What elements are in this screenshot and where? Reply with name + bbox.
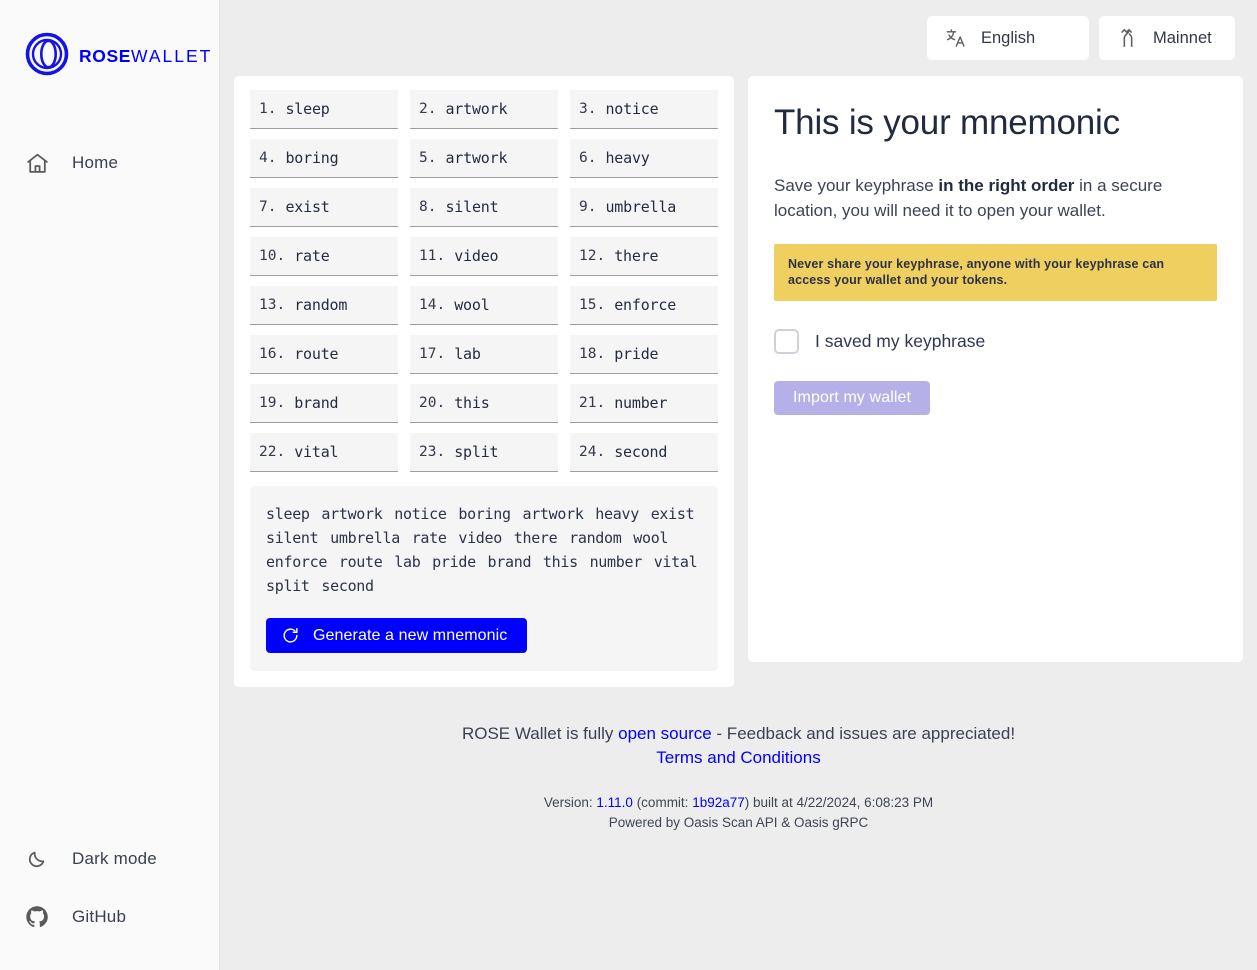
mnemonic-word-grid: 1.sleep2.artwork3.notice4.boring5.artwor…: [250, 90, 718, 472]
mnemonic-word-value: brand: [294, 394, 338, 412]
sidebar-nav-bottom: Dark mode GitHub: [0, 830, 219, 946]
mnemonic-word-value: silent: [445, 198, 498, 216]
mnemonic-word-index: 8.: [419, 199, 436, 215]
mnemonic-word-index: 1.: [259, 101, 276, 117]
app-root: ROSEWALLET Home: [0, 0, 1257, 970]
mnemonic-word-value: number: [614, 394, 667, 412]
built-at-text: ) built at 4/22/2024, 6:08:23 PM: [745, 795, 933, 810]
mnemonic-word-index: 16.: [259, 346, 285, 362]
mnemonic-word-value: pride: [614, 345, 658, 363]
sidebar-item-label: Home: [72, 153, 118, 173]
mnemonic-word-value: second: [614, 443, 667, 461]
brand-name-bold: ROSE: [79, 46, 131, 66]
mnemonic-word-box: 14.wool: [410, 286, 558, 325]
saved-keyphrase-label: I saved my keyphrase: [815, 331, 985, 352]
mnemonic-word-box: 18.pride: [570, 335, 718, 374]
topbar: English Mainnet: [220, 0, 1257, 76]
sidebar-item-home[interactable]: Home: [0, 140, 219, 186]
brand-name: ROSEWALLET: [79, 46, 212, 67]
mnemonic-word-box: 24.second: [570, 433, 718, 472]
keyphrase-warning-banner: Never share your keyphrase, anyone with …: [774, 244, 1217, 301]
mnemonic-card: 1.sleep2.artwork3.notice4.boring5.artwor…: [234, 76, 734, 687]
sidebar: ROSEWALLET Home: [0, 0, 220, 970]
network-label: Mainnet: [1153, 29, 1212, 48]
mnemonic-word-box: 9.umbrella: [570, 188, 718, 227]
mnemonic-word-index: 10.: [259, 248, 285, 264]
sidebar-item-github[interactable]: GitHub: [0, 888, 219, 946]
mnemonic-word-box: 5.artwork: [410, 139, 558, 178]
mnemonic-word-value: wool: [454, 296, 489, 314]
instructions-text: Save your keyphrase in the right order i…: [774, 173, 1217, 223]
mnemonic-word-value: notice: [605, 100, 658, 118]
mnemonic-word-value: there: [614, 247, 658, 265]
network-selector[interactable]: Mainnet: [1099, 16, 1235, 60]
mnemonic-word-index: 14.: [419, 297, 445, 313]
instructions-part1: Save your keyphrase: [774, 176, 938, 195]
home-icon: [24, 150, 50, 176]
mnemonic-word-index: 24.: [579, 444, 605, 460]
mnemonic-word-value: rate: [294, 247, 329, 265]
footer: ROSE Wallet is fully open source - Feedb…: [220, 687, 1257, 833]
import-wallet-button[interactable]: Import my wallet: [774, 381, 930, 415]
mnemonic-word-index: 11.: [419, 248, 445, 264]
brand-logo[interactable]: ROSEWALLET: [0, 0, 219, 82]
mnemonic-word-index: 19.: [259, 395, 285, 411]
mnemonic-word-index: 5.: [419, 150, 436, 166]
mnemonic-word-index: 21.: [579, 395, 605, 411]
rose-logo-ring-icon: [24, 31, 70, 82]
mnemonic-word-index: 2.: [419, 101, 436, 117]
generate-button-label: Generate a new mnemonic: [313, 627, 507, 645]
sidebar-item-label: GitHub: [72, 907, 126, 927]
shuffle-network-icon: [1117, 27, 1139, 49]
mnemonic-word-value: split: [454, 443, 498, 461]
mnemonic-word-box: 21.number: [570, 384, 718, 423]
mnemonic-word-value: exist: [285, 198, 329, 216]
footer-text-pre: ROSE Wallet is fully: [462, 724, 618, 743]
mnemonic-word-value: enforce: [614, 296, 676, 314]
github-icon: [24, 904, 50, 930]
sidebar-item-label: Dark mode: [72, 849, 157, 869]
mnemonic-phrase-panel: sleep artwork notice boring artwork heav…: [250, 486, 718, 671]
mnemonic-word-box: 19.brand: [250, 384, 398, 423]
mnemonic-word-index: 3.: [579, 101, 596, 117]
mnemonic-word-value: route: [294, 345, 338, 363]
mnemonic-word-box: 15.enforce: [570, 286, 718, 325]
mnemonic-word-box: 4.boring: [250, 139, 398, 178]
page-title: This is your mnemonic: [774, 104, 1217, 143]
translate-icon: [945, 27, 967, 49]
mnemonic-word-index: 17.: [419, 346, 445, 362]
commit-label: (commit:: [633, 795, 692, 810]
version-label: Version:: [544, 795, 597, 810]
language-label: English: [981, 29, 1035, 48]
mnemonic-word-index: 12.: [579, 248, 605, 264]
language-selector[interactable]: English: [927, 16, 1089, 60]
mnemonic-word-index: 7.: [259, 199, 276, 215]
mnemonic-word-box: 3.notice: [570, 90, 718, 129]
mnemonic-word-box: 7.exist: [250, 188, 398, 227]
mnemonic-word-box: 22.vital: [250, 433, 398, 472]
mnemonic-word-index: 4.: [259, 150, 276, 166]
mnemonic-word-index: 15.: [579, 297, 605, 313]
mnemonic-word-value: vital: [294, 443, 338, 461]
saved-keyphrase-checkbox[interactable]: [774, 329, 799, 354]
warning-text: Never share your keyphrase, anyone with …: [788, 256, 1203, 288]
mnemonic-word-value: umbrella: [605, 198, 676, 216]
mnemonic-word-value: this: [454, 394, 489, 412]
moon-icon: [24, 846, 50, 872]
mnemonic-word-value: sleep: [285, 100, 329, 118]
mnemonic-word-box: 10.rate: [250, 237, 398, 276]
mnemonic-word-value: video: [454, 247, 498, 265]
mnemonic-word-index: 13.: [259, 297, 285, 313]
mnemonic-word-box: 12.there: [570, 237, 718, 276]
sidebar-item-dark-mode[interactable]: Dark mode: [0, 830, 219, 888]
mnemonic-word-value: artwork: [445, 149, 507, 167]
mnemonic-word-box: 13.random: [250, 286, 398, 325]
footer-terms-line: Terms and Conditions: [220, 746, 1257, 770]
sidebar-nav-top: Home: [0, 140, 219, 186]
mnemonic-word-box: 17.lab: [410, 335, 558, 374]
mnemonic-word-index: 18.: [579, 346, 605, 362]
mnemonic-word-index: 22.: [259, 444, 285, 460]
mnemonic-word-index: 20.: [419, 395, 445, 411]
instructions-card: This is your mnemonic Save your keyphras…: [748, 76, 1243, 662]
content-cards: 1.sleep2.artwork3.notice4.boring5.artwor…: [220, 76, 1257, 687]
mnemonic-word-value: heavy: [605, 149, 649, 167]
generate-new-mnemonic-button[interactable]: Generate a new mnemonic: [266, 618, 527, 653]
mnemonic-word-box: 16.route: [250, 335, 398, 374]
terms-and-conditions-link[interactable]: Terms and Conditions: [656, 748, 820, 767]
mnemonic-word-box: 1.sleep: [250, 90, 398, 129]
mnemonic-word-box: 23.split: [410, 433, 558, 472]
footer-version-line: Version: 1.11.0 (commit: 1b92a77) built …: [220, 793, 1257, 813]
open-source-link[interactable]: open source: [618, 724, 712, 743]
mnemonic-word-box: 8.silent: [410, 188, 558, 227]
footer-powered-line: Powered by Oasis Scan API & Oasis gRPC: [220, 813, 1257, 833]
mnemonic-word-value: random: [294, 296, 347, 314]
footer-text-post: - Feedback and issues are appreciated!: [712, 724, 1015, 743]
mnemonic-word-box: 6.heavy: [570, 139, 718, 178]
main-area: English Mainnet 1.sleep2.artwork3.notic: [220, 0, 1257, 970]
instructions-emphasis: in the right order: [938, 176, 1074, 195]
mnemonic-word-index: 6.: [579, 150, 596, 166]
mnemonic-full-phrase: sleep artwork notice boring artwork heav…: [266, 502, 702, 598]
refresh-icon: [280, 626, 300, 646]
mnemonic-word-index: 23.: [419, 444, 445, 460]
mnemonic-word-value: boring: [285, 149, 338, 167]
mnemonic-word-value: artwork: [445, 100, 507, 118]
commit-link[interactable]: 1b92a77: [692, 795, 745, 810]
version-link[interactable]: 1.11.0: [596, 795, 633, 810]
mnemonic-word-box: 11.video: [410, 237, 558, 276]
brand-name-light: WALLET: [131, 46, 212, 66]
mnemonic-word-box: 2.artwork: [410, 90, 558, 129]
saved-keyphrase-checkbox-row[interactable]: I saved my keyphrase: [774, 329, 1217, 354]
mnemonic-word-index: 9.: [579, 199, 596, 215]
mnemonic-word-box: 20.this: [410, 384, 558, 423]
footer-opensource-line: ROSE Wallet is fully open source - Feedb…: [220, 722, 1257, 746]
mnemonic-word-value: lab: [454, 345, 481, 363]
